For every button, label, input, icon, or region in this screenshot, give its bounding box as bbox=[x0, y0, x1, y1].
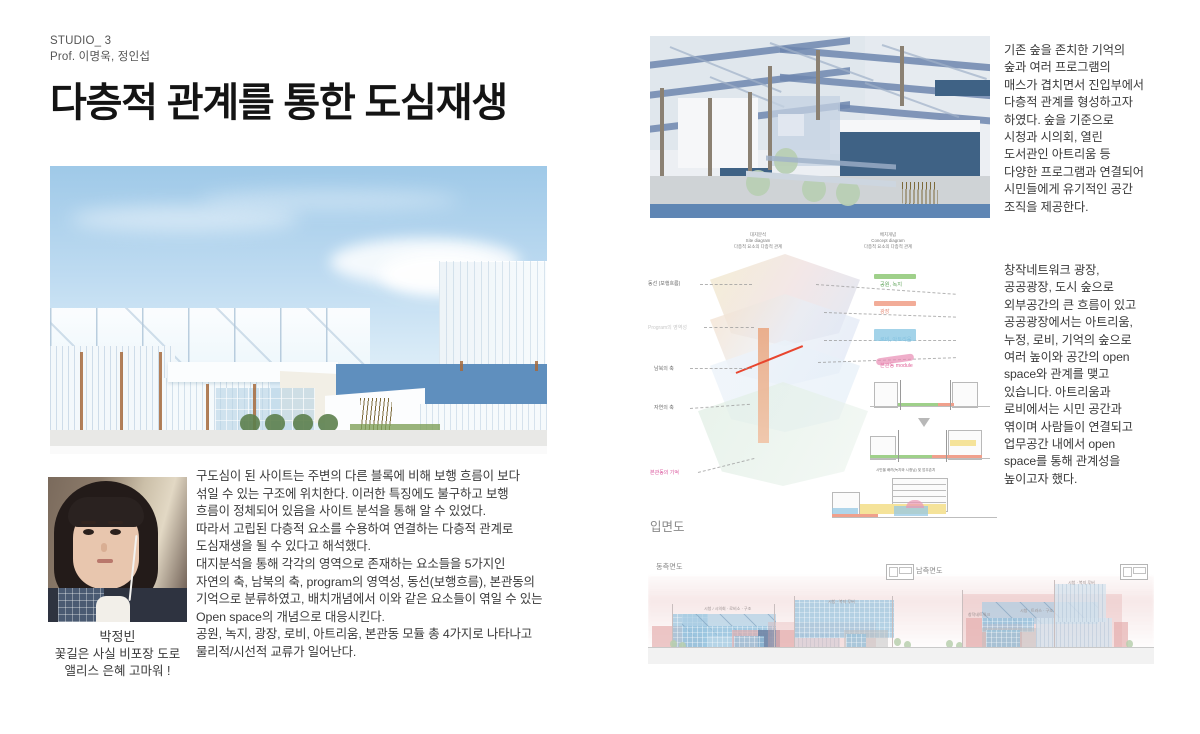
legend-swatch-salmon bbox=[874, 301, 916, 306]
author-caption-line-2: 앨리스 은혜 고마워 ! bbox=[40, 663, 195, 680]
diagram-leader-line bbox=[700, 284, 752, 285]
mini-section-axis bbox=[950, 380, 951, 410]
mini-section-volume bbox=[952, 382, 978, 408]
diagram-transform-arrow-icon bbox=[918, 418, 930, 427]
description-line: 대지분석을 통해 각각의 영역으로 존재하는 요소들을 5가지인 bbox=[196, 556, 548, 574]
concept-text-line: 조직을 제공한다. bbox=[1004, 199, 1184, 216]
east-base-glazing bbox=[846, 634, 866, 648]
mini-section-caption: 시민을 배려(녹지와 시청님) 및 업무존치 bbox=[876, 468, 935, 473]
elevation-label-south: 남측면도 bbox=[916, 566, 942, 576]
diagram-title-site: 대지분석 Site diagram 다층적 요소의 다층적 관계 bbox=[703, 232, 813, 251]
photo-eyebrow bbox=[108, 521, 123, 524]
south-louver-block bbox=[1036, 618, 1112, 648]
elevation-drawings: 동측면도 남측면도 시청 / 시의회 · 로비소 · 구조 시청 · 복지 루버 bbox=[648, 556, 1154, 666]
mini-section-after bbox=[870, 430, 990, 468]
diagram-label-circulation: 동선 (보행흐름) bbox=[648, 280, 680, 287]
site-concept-diagram: 대지분석 Site diagram 다층적 요소의 다층적 관계 배치개념 Co… bbox=[648, 232, 1000, 490]
axon-column bbox=[816, 50, 820, 120]
diagram-label-ns-axis: 남북의 축 bbox=[654, 365, 674, 372]
description-line: 도심재생을 될 수 있다고 해석했다. bbox=[196, 538, 548, 556]
description-line: 자연의 축, 남북의 축, program의 영역성, 동선(보행흐름), 본관… bbox=[196, 574, 548, 592]
concept-text-line: 높이고자 했다. bbox=[1004, 471, 1184, 488]
photo-fringe bbox=[68, 497, 144, 527]
concept-text-line: space와 관계를 맺고 bbox=[1004, 366, 1184, 383]
east-tag-right: 시청 · 복지 루버 bbox=[828, 599, 855, 605]
concept-text-line: 도서관인 아트리움 등 bbox=[1004, 146, 1184, 163]
east-tag-left: 시청 / 시의회 · 로비소 · 구조 bbox=[704, 606, 751, 612]
photo-eyebrow bbox=[81, 521, 96, 524]
elevation-ground-band bbox=[648, 648, 1154, 664]
wood-fin bbox=[535, 361, 538, 371]
wood-fin bbox=[80, 352, 83, 430]
mini-section-plaza bbox=[932, 455, 982, 458]
diagram-title-concept: 배치개념 Concept diagram 다층적 요소의 다층적 관계 bbox=[833, 232, 943, 251]
mini-section-volume bbox=[874, 382, 898, 408]
concept-text-line: 엮이며 사람들이 연결되고 bbox=[1004, 419, 1184, 436]
author-caption: 박정빈 꽃길은 사실 비포장 도로 앨리스 은혜 고마워 ! bbox=[40, 628, 195, 680]
axon-column bbox=[748, 92, 752, 182]
concept-text-upper: 기존 숲을 존치한 기억의 숲과 여러 프로그램의 매스가 겹치면서 진입부에서… bbox=[1004, 42, 1184, 216]
author-caption-line-1: 꽃길은 사실 비포장 도로 bbox=[40, 646, 195, 663]
mini-building-section: 시민을 배려(녹지와 시청님) 및 업무존치 bbox=[832, 474, 997, 522]
photo-nose bbox=[101, 543, 107, 552]
mini-section-groundline bbox=[870, 406, 990, 407]
axon-white-volume bbox=[678, 98, 758, 168]
mini-floor-line bbox=[892, 490, 946, 491]
photo-eye bbox=[110, 529, 121, 535]
description-line: 흐름이 정체되어 있음을 사이트 분석을 통해 알 수 있었다. bbox=[196, 503, 548, 521]
diagram-legend-plaza: 광장 bbox=[880, 308, 890, 315]
concept-text-line: 있습니다. 아트리움과 bbox=[1004, 384, 1184, 401]
south-edge-line bbox=[1054, 580, 1055, 648]
concept-text-line: 시청과 시의회, 열린 bbox=[1004, 129, 1184, 146]
east-edge-line bbox=[774, 604, 775, 648]
south-base-glazing bbox=[986, 630, 1020, 648]
page-title: 다층적 관계를 통한 도심재생 bbox=[50, 81, 600, 126]
east-tree bbox=[894, 638, 901, 646]
elevation-section-title: 입면도 bbox=[650, 516, 685, 535]
concept-text-line: 매스가 겹치면서 진입부에서 bbox=[1004, 77, 1184, 94]
concept-text-line: 로비에서는 시민 공간과 bbox=[1004, 401, 1184, 418]
concept-text-line: 숲과 여러 프로그램의 bbox=[1004, 59, 1184, 76]
south-tag-right: 시청 · 복지 루버 bbox=[1068, 580, 1095, 586]
presentation-board: STUDIO_ 3 Prof. 이명욱, 정인섭 다층적 관계를 통한 도심재생 bbox=[0, 0, 1200, 734]
mini-section-before bbox=[870, 380, 990, 416]
south-tag-mid: 시청 · 트러스 · 구조 bbox=[1020, 608, 1053, 614]
concept-text-line: 다양한 프로그램과 연결되어 bbox=[1004, 164, 1184, 181]
render-road bbox=[50, 446, 547, 454]
wood-fin bbox=[159, 352, 162, 430]
concept-text-line: 창작네트워크 광장, bbox=[1004, 262, 1184, 279]
concept-text-line: 공공광장에서는 아트리움, bbox=[1004, 314, 1184, 331]
professor-label: Prof. 이명욱, 정인섭 bbox=[50, 50, 600, 65]
description-line: 구도심이 된 사이트는 주변의 다른 블록에 비해 보행 흐름이 보다 bbox=[196, 468, 548, 486]
studio-label: STUDIO_ 3 bbox=[50, 34, 600, 49]
concept-text-line: 업무공간 내에서 open bbox=[1004, 436, 1184, 453]
diagram-core-axis bbox=[758, 328, 769, 443]
diagram-label-program: Program의 영역성 bbox=[648, 324, 687, 331]
project-description: 구도심이 된 사이트는 주변의 다른 블록에 비해 보행 흐름이 보다 섞일 수… bbox=[196, 468, 548, 662]
mini-floor-line bbox=[892, 496, 946, 497]
diagram-label-nature-axis: 자연의 축 bbox=[654, 404, 674, 411]
mini-section-green bbox=[870, 455, 936, 458]
wood-fin bbox=[120, 352, 123, 430]
mini-section-pink-node bbox=[906, 500, 924, 508]
concept-text-line: 외부공간의 큰 흐름이 있고 bbox=[1004, 297, 1184, 314]
wood-fin bbox=[460, 361, 463, 371]
axon-column bbox=[900, 46, 904, 106]
concept-text-line: space를 통해 관계성을 bbox=[1004, 453, 1184, 470]
wood-fin bbox=[206, 384, 209, 430]
photo-inner-shirt bbox=[96, 596, 130, 622]
author-name: 박정빈 bbox=[40, 628, 195, 646]
board-header: STUDIO_ 3 Prof. 이명욱, 정인섭 다층적 관계를 통한 도심재생 bbox=[50, 34, 600, 126]
render-tower-volume bbox=[439, 261, 547, 366]
concept-text-line: 여러 높이와 공간의 open bbox=[1004, 349, 1184, 366]
south-tower-louver bbox=[1054, 584, 1106, 622]
axon-water-band bbox=[650, 204, 990, 218]
author-photo bbox=[48, 477, 187, 622]
axon-column bbox=[768, 66, 772, 170]
description-line: 따라서 고립된 다층적 요소를 수용하여 연결하는 다층적 관계로 bbox=[196, 521, 548, 539]
axon-column bbox=[660, 88, 664, 178]
cloud-wisp-1 bbox=[70, 206, 300, 232]
elevation-key-plan-icon-east bbox=[886, 564, 914, 580]
diagram-title-concept-sub: 다층적 요소의 다층적 관계 bbox=[833, 244, 943, 250]
concept-text-line: 다층적 관계를 형성하고자 bbox=[1004, 94, 1184, 111]
mini-section-axis bbox=[946, 430, 947, 462]
photo-mouth bbox=[97, 559, 113, 563]
axon-bamboo-screen bbox=[902, 182, 938, 204]
elevation-label-east: 동측면도 bbox=[656, 562, 682, 572]
legend-swatch-blue bbox=[874, 329, 916, 341]
mini-section-atrium bbox=[950, 440, 976, 446]
mini-section-green bbox=[898, 403, 938, 406]
description-line: 물리적/시선적 교류가 일어난다. bbox=[196, 644, 548, 662]
cloud-wisp-2 bbox=[200, 190, 460, 210]
elevation-key-plan-icon-south bbox=[1120, 564, 1148, 580]
concept-text-line: 기존 숲을 존치한 기억의 bbox=[1004, 42, 1184, 59]
concept-text-lower: 창작네트워크 광장, 공공광장, 도시 숲으로 외부공간의 큰 흐름이 있고 공… bbox=[1004, 262, 1184, 488]
diagram-title-site-sub: 다층적 요소의 다층적 관계 bbox=[703, 244, 813, 250]
concept-text-line: 공공광장, 도시 숲으로 bbox=[1004, 279, 1184, 296]
mini-section-plaza bbox=[938, 403, 954, 406]
photo-eye bbox=[83, 529, 94, 535]
concept-text-line: 시민들에게 유기적인 공간 bbox=[1004, 181, 1184, 198]
axonometric-render-image bbox=[650, 36, 990, 218]
mini-section-axis bbox=[900, 380, 901, 410]
axon-column bbox=[708, 98, 712, 182]
axon-navy-band bbox=[935, 80, 990, 96]
axon-window bbox=[778, 114, 804, 136]
render-louver-block-left bbox=[50, 346, 175, 431]
east-edge-line bbox=[892, 596, 893, 648]
diagram-label-memory: 본관동의 기억 bbox=[650, 469, 679, 476]
diagram-legend-park: 공원, 녹지 bbox=[880, 281, 902, 288]
diagram-leader-line bbox=[704, 327, 754, 328]
concept-text-line: 하였다. 숲을 기준으로 bbox=[1004, 112, 1184, 129]
south-tag-left: 창작네트워크 bbox=[968, 612, 990, 618]
description-line: 섞일 수 있는 구조에 위치한다. 이러한 특징에도 불구하고 보행 bbox=[196, 486, 548, 504]
east-edge-line bbox=[794, 596, 795, 648]
mini-section-axis bbox=[898, 430, 899, 462]
mini-floor-line bbox=[892, 484, 946, 485]
hero-render-image bbox=[50, 166, 547, 454]
south-edge-line bbox=[962, 590, 963, 648]
concept-text-line: 누정, 로비, 기억의 숲으로 bbox=[1004, 332, 1184, 349]
mini-section-groundline bbox=[832, 517, 997, 518]
legend-swatch-green bbox=[874, 274, 916, 279]
description-line: 기억으로 분류하였고, 배치개념에서 이와 같은 요소들이 엮일 수 있는 bbox=[196, 591, 548, 609]
mini-section-groundline bbox=[870, 458, 990, 459]
description-line: 공원, 녹지, 광장, 로비, 아트리움, 본관동 모듈 총 4가지로 나타나고 bbox=[196, 626, 548, 644]
description-line: Open space의 개념으로 대응시킨다. bbox=[196, 609, 548, 627]
diagram-leader-line bbox=[690, 368, 752, 369]
